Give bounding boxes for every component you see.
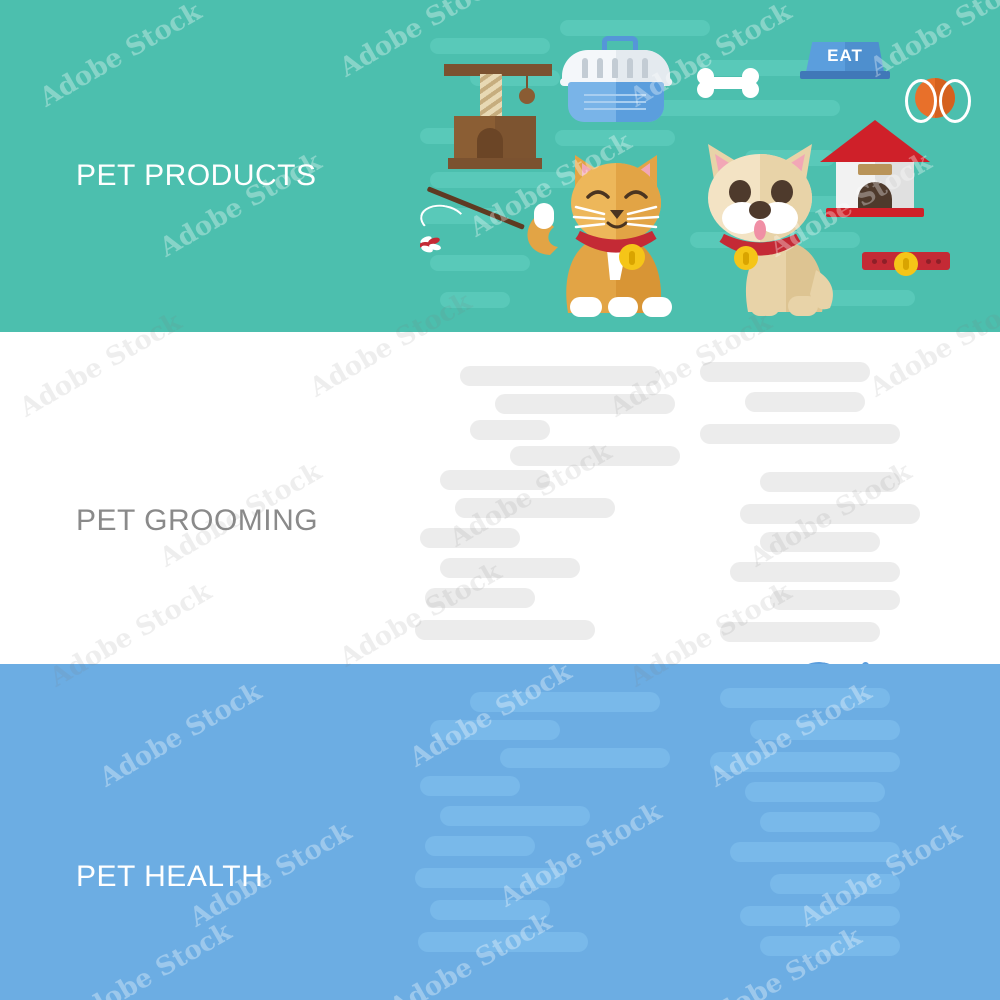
dog-eye-left [729, 180, 751, 204]
tennis-ball-icon[interactable] [915, 78, 955, 118]
dog-paw-1 [750, 296, 780, 316]
cat-paw-1 [570, 297, 602, 317]
pet-carrier-icon[interactable] [560, 36, 672, 128]
cat-bell-slit [629, 251, 635, 265]
background-stripes [0, 332, 1000, 664]
collar-icon[interactable] [862, 252, 950, 274]
dog-eye-right [771, 180, 793, 204]
banner-pet-grooming[interactable]: PET GROOMING [0, 332, 1000, 664]
cat-paw-3 [642, 297, 672, 317]
dog-tongue [754, 220, 766, 240]
banner-set: PET PRODUCTS [0, 0, 1000, 1000]
background-stripes [0, 664, 1000, 1000]
cat-illustration[interactable] [520, 135, 710, 320]
banner-pet-products[interactable]: PET PRODUCTS [0, 0, 1000, 332]
food-bowl-icon[interactable]: EAT [800, 42, 890, 84]
banner-pet-health[interactable]: PET HEALTH [0, 664, 1000, 1000]
dog-nose [749, 201, 771, 219]
banner-title-pet-grooming: PET GROOMING [76, 504, 318, 538]
feather-toy-icon [420, 235, 446, 253]
banner-title-pet-health: PET HEALTH [76, 860, 263, 894]
cat-tail-tip [534, 203, 554, 229]
dog-paw-2 [788, 296, 818, 316]
food-bowl-label: EAT [800, 46, 890, 66]
cat-paw-2 [608, 297, 638, 317]
dog-illustration[interactable] [690, 130, 850, 320]
dog-bell-slit [743, 252, 749, 265]
banner-title-pet-products: PET PRODUCTS [76, 159, 316, 193]
bone-icon[interactable] [697, 68, 759, 98]
cat-toy-wand-icon[interactable] [420, 205, 530, 275]
